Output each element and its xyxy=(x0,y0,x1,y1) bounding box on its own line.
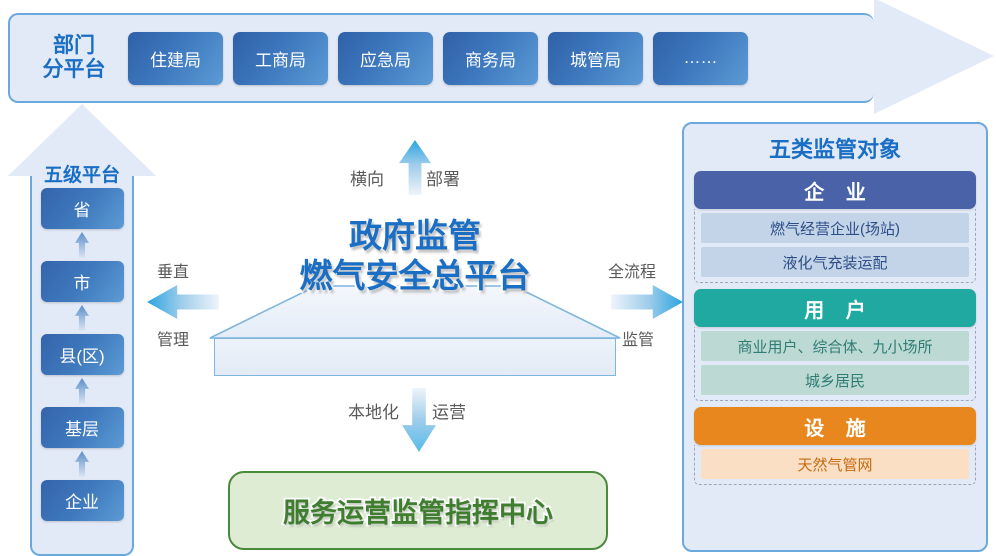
five-level-platform-title: 五级平台 xyxy=(8,160,156,187)
level-up-arrow-icon xyxy=(75,451,89,477)
dept-chip-emergency[interactable]: 应急局 xyxy=(338,32,433,85)
level-up-arrow-icon xyxy=(75,378,89,404)
five-level-platform-arrow: 五级平台 省 市 县(区) 基层 企业 xyxy=(8,104,156,556)
category-items-facility: 天然气管网 xyxy=(694,445,976,485)
label-localization: 本地化 xyxy=(348,398,399,423)
department-banner-content: 部门 分平台 住建局 工商局 应急局 商务局 城管局 …… xyxy=(8,13,874,103)
supervision-panel-title: 五类监管对象 xyxy=(694,132,976,164)
service-operation-command-center[interactable]: 服务运营监管指挥中心 xyxy=(228,471,608,550)
central-platform-title: 政府监管 燃气安全总平台 xyxy=(180,216,650,296)
dept-chip-more[interactable]: …… xyxy=(653,32,748,85)
level-item-city[interactable]: 市 xyxy=(41,261,124,302)
category-items-enterprise: 燃气经营企业(场站) 液化气充装运配 xyxy=(694,209,976,283)
level-item-grassroots[interactable]: 基层 xyxy=(41,407,124,448)
category-header-enterprise[interactable]: 企 业 xyxy=(694,171,976,209)
category-items-user: 商业用户、综合体、九小场所 城乡居民 xyxy=(694,327,976,401)
category-header-facility[interactable]: 设 施 xyxy=(694,407,976,445)
five-supervision-objects-panel: 五类监管对象 企 业 燃气经营企业(场站) 液化气充装运配 用 户 商业用户、综… xyxy=(682,122,988,552)
down-arrow-icon xyxy=(402,388,436,452)
label-horizontal: 横向 xyxy=(350,165,384,190)
category-group-enterprise: 企 业 燃气经营企业(场站) 液化气充装运配 xyxy=(694,171,976,283)
level-up-arrow-icon xyxy=(75,305,89,331)
category-item-commercial-users[interactable]: 商业用户、综合体、九小场所 xyxy=(701,331,969,361)
level-item-province[interactable]: 省 xyxy=(41,188,124,229)
central-platform-slab xyxy=(208,285,622,377)
level-up-arrow-icon xyxy=(75,232,89,258)
category-group-user: 用 户 商业用户、综合体、九小场所 城乡居民 xyxy=(694,289,976,401)
level-item-county[interactable]: 县(区) xyxy=(41,334,124,375)
label-management: 管理 xyxy=(157,326,189,350)
dept-chip-urban-management[interactable]: 城管局 xyxy=(548,32,643,85)
category-group-facility: 设 施 天然气管网 xyxy=(694,407,976,485)
category-item-urban-rural-residents[interactable]: 城乡居民 xyxy=(701,365,969,395)
label-supervision: 监管 xyxy=(622,326,654,350)
category-header-user[interactable]: 用 户 xyxy=(694,289,976,327)
dept-chip-commerce-industry[interactable]: 工商局 xyxy=(233,32,328,85)
label-operation: 运营 xyxy=(432,398,466,423)
department-banner-arrowhead-icon xyxy=(874,0,994,114)
level-item-enterprise[interactable]: 企业 xyxy=(41,480,124,521)
command-center-label: 服务运营监管指挥中心 xyxy=(283,491,553,530)
dept-chip-housing[interactable]: 住建局 xyxy=(128,32,223,85)
slab-front-face xyxy=(214,338,616,376)
dept-chip-business[interactable]: 商务局 xyxy=(443,32,538,85)
department-platform-banner: 部门 分平台 住建局 工商局 应急局 商务局 城管局 …… xyxy=(8,4,992,112)
category-item-gas-operating-enterprise[interactable]: 燃气经营企业(场站) xyxy=(701,213,969,243)
five-level-list: 省 市 县(区) 基层 企业 xyxy=(35,188,129,521)
category-item-lpg-filling-transport[interactable]: 液化气充装运配 xyxy=(701,247,969,277)
category-item-natural-gas-pipeline-network[interactable]: 天然气管网 xyxy=(701,449,969,479)
label-deployment: 部署 xyxy=(426,165,460,190)
department-platform-title: 部门 分平台 xyxy=(30,34,118,82)
